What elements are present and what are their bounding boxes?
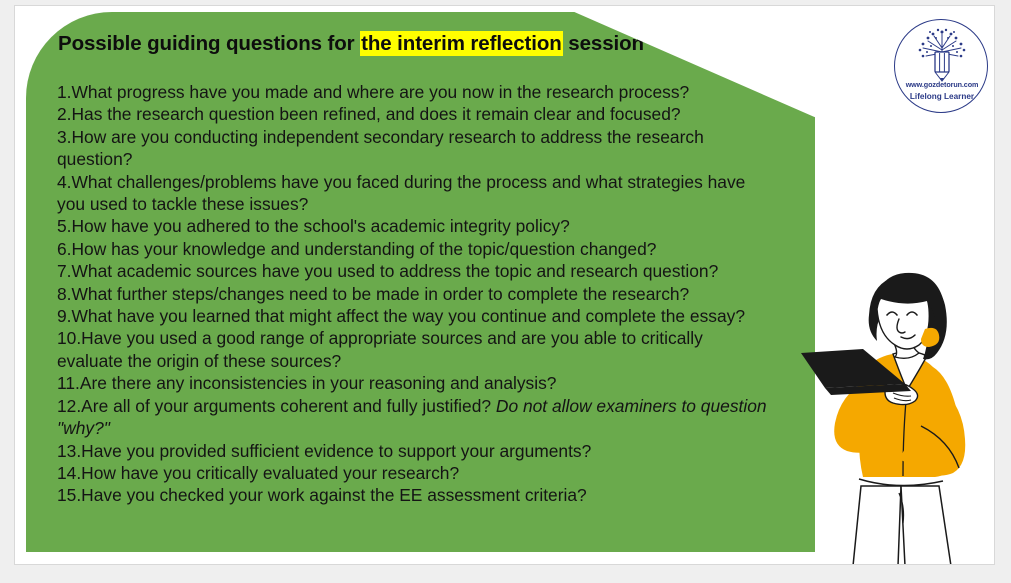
pencil-tree-icon (906, 26, 978, 82)
woman-with-laptop-illustration (801, 271, 995, 565)
list-item: 4.What challenges/problems have you face… (57, 171, 771, 216)
list-item: 15.Have you checked your work against th… (57, 484, 771, 506)
list-item-12: 12.Are all of your arguments coherent an… (57, 395, 771, 440)
list-item: 9.What have you learned that might affec… (57, 305, 771, 327)
logo-badge: www.gozdetorun.com Lifelong Learner (894, 19, 988, 113)
logo-tagline: Lifelong Learner (895, 92, 989, 101)
list-item: 10.Have you used a good range of appropr… (57, 327, 771, 372)
list-item: 5.How have you adhered to the school's a… (57, 215, 771, 237)
page-title: Possible guiding questions for the inter… (58, 32, 758, 56)
list-item: 3.How are you conducting independent sec… (57, 126, 771, 171)
logo-website: www.gozdetorun.com (895, 80, 989, 89)
panel-inner: Possible guiding questions for the inter… (26, 12, 815, 552)
list-item: 2.Has the research question been refined… (57, 103, 771, 125)
list-item-12-plain: 12.Are all of your arguments coherent an… (57, 396, 496, 416)
list-item: 1.What progress have you made and where … (57, 81, 771, 103)
list-item: 14.How have you critically evaluated you… (57, 462, 771, 484)
list-item: 11.Are there any inconsistencies in your… (57, 372, 771, 394)
list-item: 8.What further steps/changes need to be … (57, 283, 771, 305)
list-item: 7.What academic sources have you used to… (57, 260, 771, 282)
title-suffix: session (563, 32, 644, 55)
guiding-questions-list: 1.What progress have you made and where … (57, 81, 771, 507)
slide-page: Possible guiding questions for the inter… (14, 5, 995, 565)
list-item: 13.Have you provided sufficient evidence… (57, 440, 771, 462)
list-item: 6.How has your knowledge and understandi… (57, 238, 771, 260)
title-highlight: the interim reflection (360, 31, 563, 56)
title-prefix: Possible guiding questions for (58, 32, 360, 55)
green-content-panel: Possible guiding questions for the inter… (26, 12, 815, 552)
slide-canvas: Possible guiding questions for the inter… (0, 0, 1011, 583)
